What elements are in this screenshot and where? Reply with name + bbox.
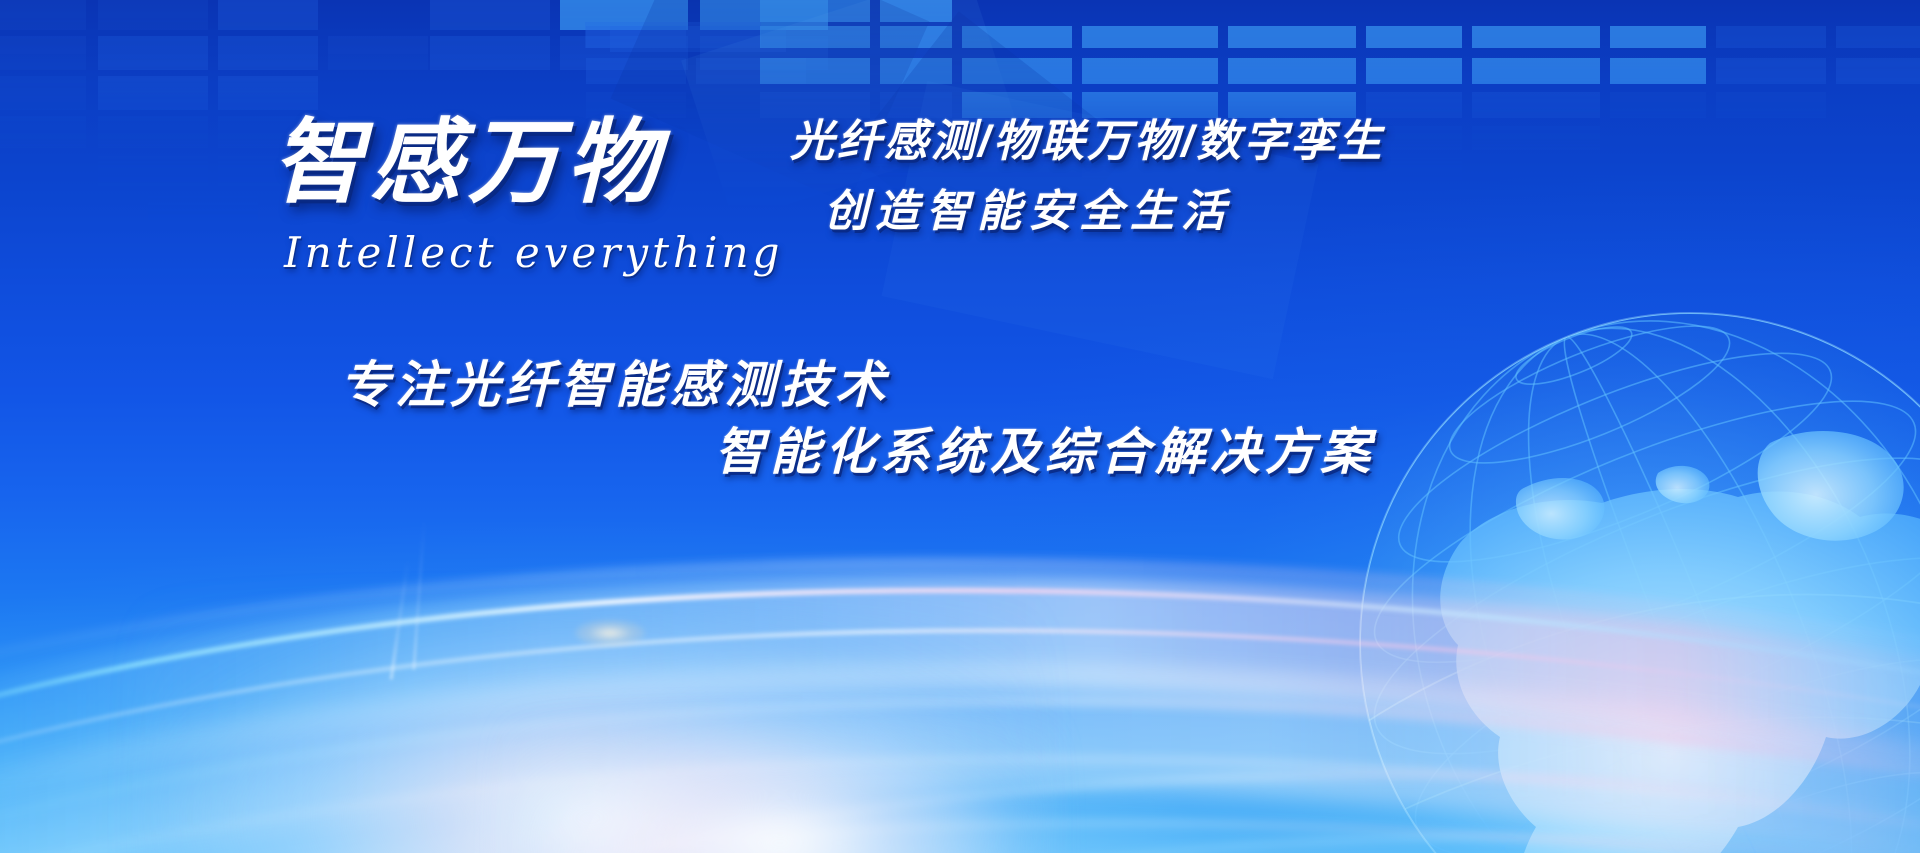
glow-core-secondary — [500, 713, 1060, 853]
tagline-secondary: 创造智能安全生活 — [824, 175, 1232, 239]
promo-banner: 智感万物 Intellect everything 光纤感测/物联万物/数字孪生… — [0, 0, 1920, 853]
page-title: 智感万物 — [272, 88, 664, 221]
tagline-primary: 光纤感测/物联万物/数字孪生 — [790, 105, 1384, 169]
light-ray — [413, 520, 425, 670]
page-subtitle-english: Intellect everything — [284, 228, 783, 277]
lens-flare-dot — [575, 620, 645, 646]
wireframe-globe — [1340, 293, 1920, 853]
focus-statement-line-2: 智能化系统及综合解决方案 — [715, 412, 1375, 484]
light-ray — [390, 560, 410, 679]
focus-statement-line-1: 专注光纤智能感测技术 — [340, 345, 890, 417]
